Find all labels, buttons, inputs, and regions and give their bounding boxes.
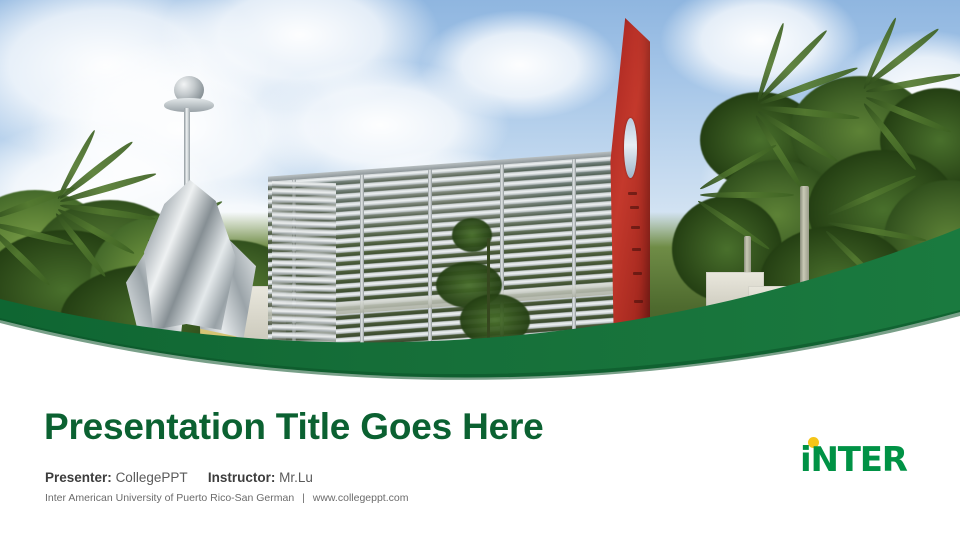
facade-mullion bbox=[572, 159, 576, 349]
palm-frond bbox=[700, 192, 794, 198]
tower-marking bbox=[630, 206, 639, 209]
tower-marking bbox=[633, 272, 642, 275]
palm-trunk bbox=[800, 186, 809, 316]
steel-sculpture bbox=[120, 72, 280, 358]
campus-block bbox=[748, 286, 794, 322]
sculpture-stem bbox=[184, 108, 190, 186]
logo-wordmark: iNTER bbox=[800, 443, 907, 477]
byline: Presenter: CollegePPT Instructor: Mr.Lu bbox=[45, 470, 313, 485]
hero-photo bbox=[0, 0, 960, 372]
instructor-label: Instructor: bbox=[208, 470, 276, 485]
tower-marking bbox=[634, 300, 643, 303]
foreground-tree bbox=[460, 294, 530, 346]
source-line: Inter American University of Puerto Rico… bbox=[45, 492, 408, 504]
source-website[interactable]: www.collegeppt.com bbox=[313, 492, 409, 504]
tower-oval-opening bbox=[624, 118, 637, 178]
tower-marking bbox=[631, 226, 640, 229]
presentation-slide: Presentation Title Goes Here Presenter: … bbox=[0, 0, 960, 540]
presenter-label: Presenter: bbox=[45, 470, 112, 485]
facade-left-louver-stack bbox=[272, 181, 336, 367]
presenter-value: CollegePPT bbox=[116, 470, 188, 485]
tower-marking bbox=[628, 192, 637, 195]
source-institution: Inter American University of Puerto Rico… bbox=[45, 492, 294, 504]
instructor-value: Mr.Lu bbox=[279, 470, 313, 485]
page-title: Presentation Title Goes Here bbox=[44, 406, 544, 449]
foreground-tree-trunk bbox=[487, 238, 490, 348]
source-separator: | bbox=[297, 492, 310, 504]
inter-logo: iNTER bbox=[800, 437, 920, 479]
facade-mullion bbox=[428, 170, 432, 360]
facade-mullion bbox=[360, 175, 364, 365]
foreground-tree bbox=[452, 218, 492, 252]
tower-marking bbox=[632, 248, 641, 251]
sculpture-center-blade bbox=[144, 180, 236, 330]
